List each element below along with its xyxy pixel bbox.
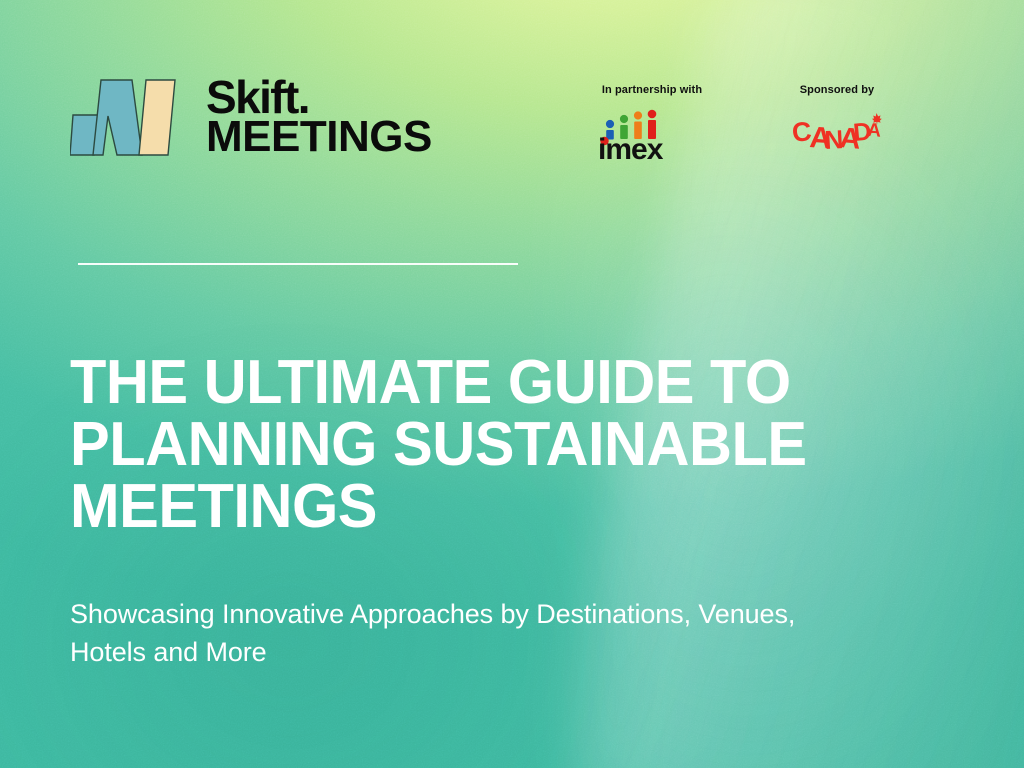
canada-logo[interactable]: C A N A D A — [792, 108, 882, 158]
title-divider-rule — [78, 263, 518, 265]
report-cover-page: Skift. MEETINGS In partnership with — [0, 0, 1024, 768]
cover-header: Skift. MEETINGS In partnership with — [0, 0, 1024, 190]
imex-logo[interactable]: imex — [598, 108, 706, 160]
sponsor-credit-block: Sponsored by C A N A D A — [752, 84, 922, 158]
skift-meetings-wordmark: Skift. MEETINGS — [206, 78, 432, 155]
sponsor-credit-label: Sponsored by — [752, 84, 922, 96]
page-subtitle: Showcasing Innovative Approaches by Dest… — [70, 595, 830, 672]
cover-main-content: THE ULTIMATE GUIDE TO PLANNING SUSTAINAB… — [70, 352, 950, 672]
partner-credit-block: In partnership with — [572, 84, 732, 160]
page-title: THE ULTIMATE GUIDE TO PLANNING SUSTAINAB… — [70, 352, 915, 538]
skift-meetings-logo[interactable]: Skift. MEETINGS — [70, 76, 432, 158]
skift-m-monogram-icon — [70, 76, 190, 158]
svg-text:A: A — [867, 120, 882, 142]
svg-text:imex: imex — [598, 133, 664, 160]
brand-name-meetings: MEETINGS — [206, 118, 432, 156]
partner-credit-label: In partnership with — [572, 84, 732, 96]
